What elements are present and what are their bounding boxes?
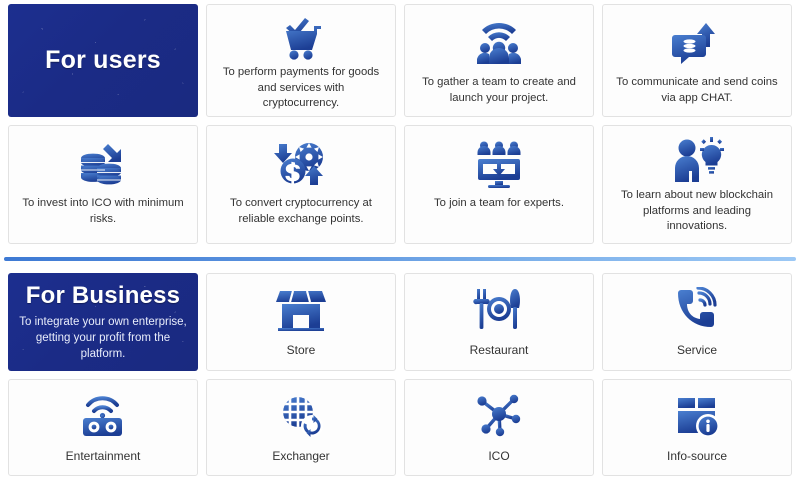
section-for-business: For Business To integrate your own enter… [0,261,800,476]
card-text: To communicate and send coins via app CH… [612,75,782,106]
banner-for-business: For Business To integrate your own enter… [8,273,198,371]
store-icon [216,284,386,334]
restaurant-icon [414,284,584,334]
card-join-team[interactable]: To join a team for experts. [404,125,594,244]
card-store[interactable]: Store [206,273,396,371]
card-label: Exchanger [272,449,329,465]
banner-for-users: For users [8,4,198,117]
card-service[interactable]: Service [602,273,792,371]
card-text: To learn about new blockchain platforms … [612,188,782,235]
card-label: Entertainment [66,449,141,465]
banner-subtitle: To integrate your own enterprise, gettin… [8,314,198,363]
card-ico[interactable]: ICO [404,379,594,476]
banner-title: For users [45,46,161,75]
card-learn-blockchain[interactable]: To learn about new blockchain platforms … [602,125,792,244]
card-entertainment[interactable]: Entertainment [8,379,198,476]
team-wifi-icon [414,15,584,71]
card-label: ICO [488,449,509,465]
chat-coins-icon [612,15,782,71]
card-payments[interactable]: To perform payments for goods and servic… [206,4,396,117]
card-label: Info-source [667,449,727,465]
card-label: Store [287,343,316,359]
service-phone-icon [612,284,782,334]
card-exchanger[interactable]: Exchanger [206,379,396,476]
card-text: To convert cryptocurrency at reliable ex… [216,196,386,227]
ico-network-icon [414,390,584,440]
card-chat-coins[interactable]: To communicate and send coins via app CH… [602,4,792,117]
card-label: Service [677,343,717,359]
person-lightbulb-icon [612,136,782,184]
card-text: To perform payments for goods and servic… [216,65,386,112]
card-info-source[interactable]: Info-source [602,379,792,476]
cart-check-icon [216,15,386,61]
features-page: For users To perform payments for goods … [0,0,800,503]
card-text: To gather a team to create and launch yo… [414,75,584,106]
exchanger-icon [216,390,386,440]
team-monitor-icon [414,136,584,192]
entertainment-icon [18,390,188,440]
banner-title: For Business [26,282,180,310]
card-convert-crypto[interactable]: To convert cryptocurrency at reliable ex… [206,125,396,244]
card-invest-ico[interactable]: To invest into ICO with minimum risks. [8,125,198,244]
section-for-users: For users To perform payments for goods … [0,0,800,244]
card-restaurant[interactable]: Restaurant [404,273,594,371]
card-gather-team[interactable]: To gather a team to create and launch yo… [404,4,594,117]
coins-arrow-icon [18,136,188,192]
card-text: To invest into ICO with minimum risks. [18,196,188,227]
info-source-icon [612,390,782,440]
card-label: Restaurant [470,343,529,359]
globe-dollar-exchange-icon [216,136,386,192]
card-text: To join a team for experts. [430,196,568,212]
